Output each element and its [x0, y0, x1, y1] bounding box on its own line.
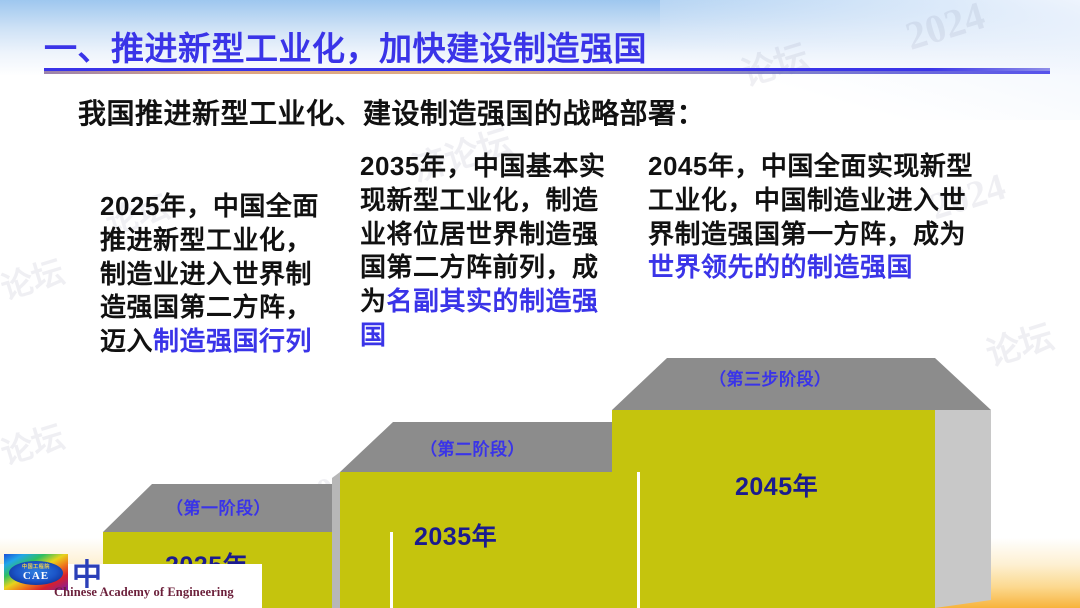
step-1-cap-label: （第一阶段）: [166, 494, 271, 519]
svg-text:CAE: CAE: [23, 570, 49, 582]
description-2045-highlight: 世界领先的的制造强国: [648, 252, 913, 282]
step-3-side: [935, 410, 991, 608]
description-2035-highlight: 名副其实的制造强国: [360, 286, 599, 350]
slide-canvas: 2024 论坛 济论坛 论坛 论坛 2024 论坛 2024 济论坛 论坛 一、…: [0, 0, 1080, 608]
description-column-2025: 2025年，中国全面推进新型工业化，制造业进入世界制造强国第二方阵，迈入制造强国…: [100, 190, 328, 359]
description-column-2045: 2045年，中国全面实现新型工业化，中国制造业进入世界制造强国第一方阵，成为世界…: [648, 150, 986, 285]
step-2-side: [332, 472, 340, 608]
step-gap-1: [390, 532, 393, 608]
step-3-front: [612, 410, 935, 608]
description-2045-black: 2045年，中国全面实现新型工业化，中国制造业进入世界制造强国第一方阵，成为: [648, 151, 973, 249]
step-gap-2: [637, 472, 640, 608]
cae-logo-english: Chinese Academy of Engineering: [54, 585, 234, 600]
svg-text:中国工程院: 中国工程院: [22, 563, 50, 570]
step-3-cap-label: （第三步阶段）: [709, 365, 832, 390]
description-2025-highlight: 制造强国行列: [153, 326, 312, 356]
description-column-2035: 2035年，中国基本实现新型工业化，制造业将位居世界制造强国第二方阵前列，成为名…: [360, 150, 612, 353]
cae-logo: CAE 中国工程院 中 Chinese Academy of Engineeri…: [4, 552, 264, 606]
step-2-face-label: 2035年: [414, 517, 497, 553]
step-3-face-label: 2045年: [735, 467, 818, 503]
step-2-cap-label: （第二阶段）: [420, 435, 525, 460]
